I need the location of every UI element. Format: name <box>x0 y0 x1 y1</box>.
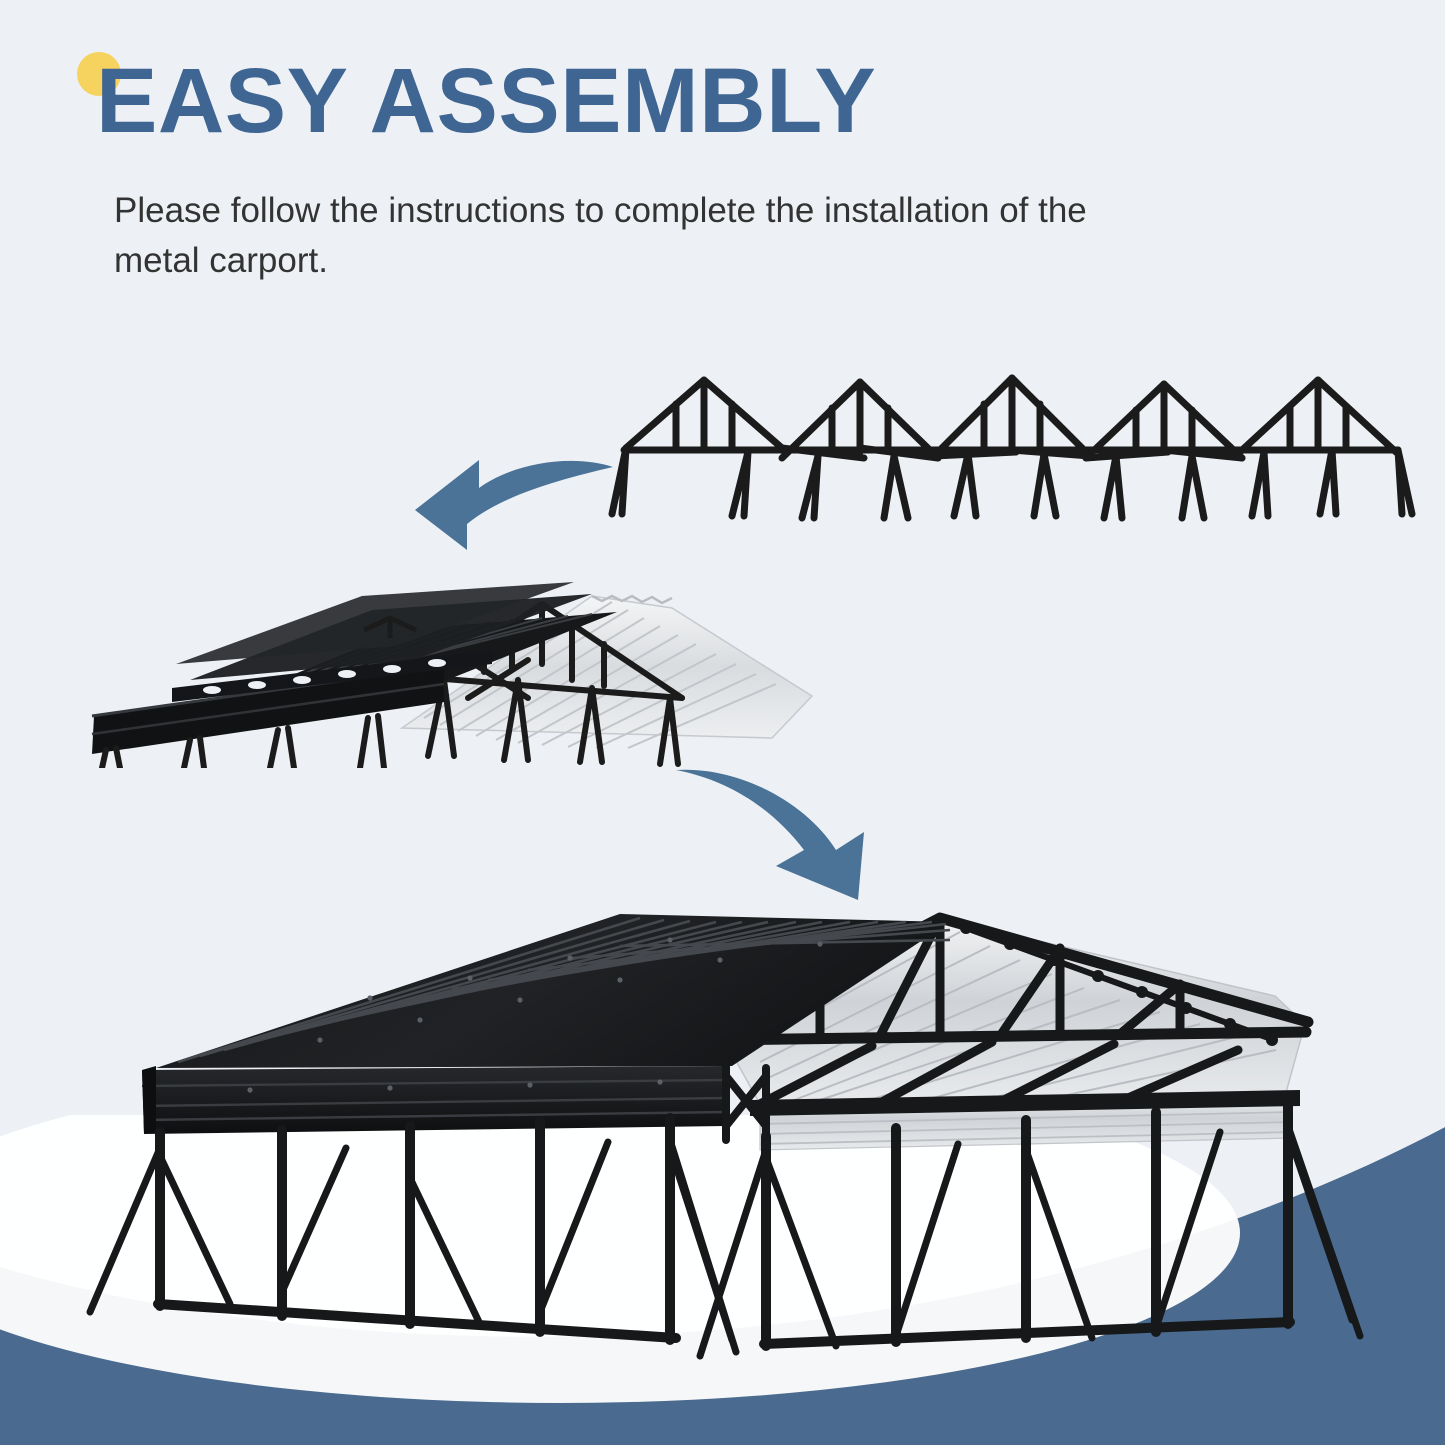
roof-panels-svg <box>72 568 852 768</box>
truss-frame-illustration <box>596 352 1426 542</box>
roof-panel-installation-illustration <box>72 568 852 768</box>
arrow-one-svg <box>405 432 620 557</box>
truss-frame-svg <box>596 352 1426 542</box>
curved-arrow-down-right-icon <box>668 758 918 903</box>
finished-carport-illustration <box>60 900 1390 1380</box>
curved-arrow-down-left-icon <box>405 432 620 557</box>
carport-svg <box>60 900 1390 1380</box>
page-subtitle: Please follow the instructions to comple… <box>114 186 1124 285</box>
infographic-canvas: EASY ASSEMBLY Please follow the instruct… <box>0 0 1445 1445</box>
arrow-two-svg <box>668 758 918 903</box>
page-title: EASY ASSEMBLY <box>96 55 876 147</box>
